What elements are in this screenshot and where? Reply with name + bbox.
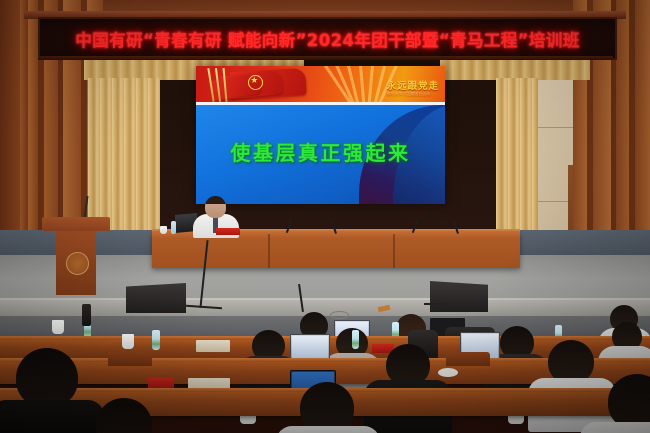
youth-league-flag-icon: ★ xyxy=(204,68,309,102)
stage-cable-4 xyxy=(424,303,446,305)
stage-monitor-left xyxy=(126,283,186,313)
paper-cup xyxy=(52,320,64,334)
slide-banner-yellow-text: 永远跟党走 青年大学习主题团日活动 xyxy=(386,78,439,97)
presenter-cup xyxy=(160,226,167,234)
attendee-laptop xyxy=(290,334,330,360)
presenter-head xyxy=(205,196,226,218)
floor-socket-icon xyxy=(330,311,349,319)
slide-top-banner: ★ 永远跟党走 青年大学习主题团日活动 xyxy=(196,66,445,102)
conference-hall-photo: 中国有研“青春有研 赋能向新”2024年团干部暨“青马工程”培训班 ★ xyxy=(0,0,650,433)
projection-screen: ★ 永远跟党走 青年大学习主题团日活动 使基层真正强起来 xyxy=(196,66,445,204)
presenter-bottle xyxy=(171,221,176,234)
podium-emblem-icon xyxy=(66,252,89,275)
led-banner: 中国有研“青春有研 赋能向新”2024年团干部暨“青马工程”培训班 xyxy=(38,17,617,60)
curtain-valance-right xyxy=(440,58,590,80)
notebook xyxy=(196,340,230,352)
seat-back xyxy=(446,352,490,366)
led-banner-text: 中国有研“青春有研 赋能向新”2024年团干部暨“青马工程”培训班 xyxy=(75,27,579,51)
stage-monitor-right xyxy=(430,281,488,312)
paper-cup xyxy=(122,334,134,349)
podium-top xyxy=(42,217,110,231)
slide-body: 使基层真正强起来 xyxy=(196,105,445,204)
seat-back xyxy=(108,352,152,366)
led-banner-base xyxy=(38,56,613,60)
thermos xyxy=(82,304,91,326)
saucer xyxy=(438,368,458,377)
slide-headline: 使基层真正强起来 xyxy=(196,137,445,166)
water-bottle xyxy=(352,330,359,349)
presenter-nameplate xyxy=(216,228,240,235)
water-bottle xyxy=(152,330,160,350)
